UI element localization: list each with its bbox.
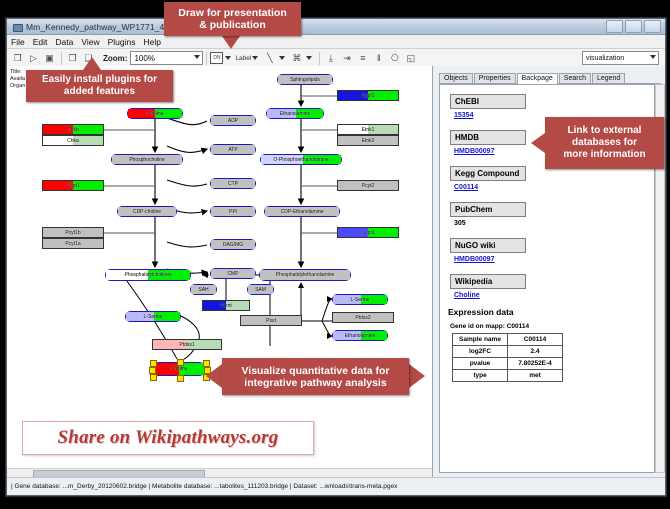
minimize-button[interactable] [606, 20, 623, 33]
node-label: Ptdss1 [179, 342, 194, 348]
gene-node[interactable]: Pcyt1a [42, 238, 104, 249]
node-label: Ethanolamine [345, 333, 376, 339]
backpage-link[interactable]: C00114 [454, 184, 650, 191]
menu-view[interactable]: View [81, 37, 99, 47]
callout-draw-text: Draw for presentation & publication [178, 7, 287, 31]
node-label: Pcyt1b [65, 230, 80, 236]
metabolite-node[interactable]: O-Phosphoethanolamine [260, 154, 342, 165]
toolbar-separator [61, 52, 62, 65]
tab-search[interactable]: Search [559, 73, 591, 83]
node-label: Pcyt1a [65, 241, 80, 247]
menu-bar: File Edit Data View Plugins Help [7, 35, 665, 49]
backpage-heading: Kegg Compound [450, 166, 526, 181]
metabolite-node[interactable]: Phosphocholine [111, 154, 183, 165]
metabolite-node[interactable]: L-Serine [125, 311, 181, 322]
table-row: log2FC2.4 [453, 346, 563, 358]
node-label: Chpt1 [66, 183, 79, 189]
table-row: typemet [453, 370, 563, 382]
label-tool[interactable]: Label [235, 55, 251, 62]
copy-icon[interactable]: ❐ [65, 51, 80, 66]
metabolite-node[interactable]: SAM [247, 284, 274, 295]
table-row: Sample nameC00114 [453, 334, 563, 346]
menu-data[interactable]: Data [55, 37, 73, 47]
metabolite-node[interactable]: Sphingolipids [277, 74, 333, 85]
node-label: Phosphocholine [129, 157, 165, 163]
chevron-down-icon-line[interactable] [279, 56, 285, 60]
callout-draw-arrow-icon [222, 36, 240, 49]
screenshot-root: Mm_Kennedy_pathway_WP1771_45176.gpml Fil… [0, 0, 670, 509]
node-label: Sgpl1 [362, 93, 375, 99]
node-label: ATP [228, 147, 237, 153]
metabolite-node[interactable]: CDP-Ethanolamine [264, 206, 340, 217]
node-label: SAM [255, 287, 266, 293]
tab-legend[interactable]: Legend [592, 73, 625, 83]
visualization-combobox[interactable]: visualization [582, 51, 659, 65]
datanode-tool-icon[interactable]: DN [210, 52, 223, 64]
node-label: Chka [67, 138, 79, 144]
share-wikipathways-banner: Share on Wikipathways.org [22, 421, 314, 455]
window-titlebar: Mm_Kennedy_pathway_WP1771_45176.gpml [7, 19, 665, 35]
callout-db-arrow-icon [531, 133, 545, 153]
node-label: Cept1 [361, 230, 374, 236]
metabolite-node[interactable]: Phosphatidylcholines [105, 269, 191, 281]
node-label: Choline [147, 111, 164, 117]
node-label: Etnk1 [362, 127, 375, 133]
gene-node[interactable]: Pisd [240, 315, 302, 326]
shape-tool-icon[interactable]: ⌘ [289, 51, 304, 66]
node-label: Pisd [266, 318, 276, 324]
expression-data-table: Sample nameC00114log2FC2.4pvalue7.80252E… [452, 333, 563, 382]
line-tool-icon[interactable]: ╲ [262, 51, 277, 66]
expression-key: pvalue [453, 358, 508, 370]
selection-handle[interactable] [150, 360, 157, 367]
node-label: SAH [198, 287, 208, 293]
table-row: pvalue7.80252E-4 [453, 358, 563, 370]
backpage-link[interactable]: Choline [454, 292, 650, 299]
window-controls[interactable] [606, 20, 662, 33]
menu-edit[interactable]: Edit [33, 37, 48, 47]
callout-viz-arrow-right-icon [409, 364, 425, 388]
selection-handle[interactable] [149, 367, 156, 374]
status-text: | Gene database: ...m_Derby_20120602.bri… [7, 483, 397, 490]
metabolite-node[interactable]: DAG/MG [210, 239, 256, 250]
callout-external-databases: Link to external databases for more info… [545, 117, 664, 169]
node-label: Chkb [67, 127, 79, 133]
selection-handle[interactable] [150, 374, 157, 381]
tab-objects[interactable]: Objects [439, 73, 473, 83]
node-label: Ethanolamine [280, 111, 311, 117]
menu-file[interactable]: File [11, 37, 25, 47]
order-icon[interactable]: ◱ [403, 51, 418, 66]
expression-value: C00114 [508, 334, 563, 346]
gene-node[interactable]: Chkb [42, 124, 104, 135]
align-left-icon[interactable]: ⇥ [339, 51, 354, 66]
backpage-heading: ChEBI [450, 94, 526, 109]
expression-key: Sample name [453, 334, 508, 346]
expression-value: 2.4 [508, 346, 563, 358]
align-top-icon[interactable]: ⤓ [323, 51, 338, 66]
node-label: CTP [228, 181, 238, 187]
node-label: L-Serine [351, 297, 370, 303]
tab-backpage[interactable]: Backpage [517, 73, 558, 84]
backpage-heading: Wikipedia [450, 274, 526, 289]
metabolite-node[interactable]: Ethanolamine [266, 108, 324, 119]
gene-node[interactable]: Etnk1 [337, 124, 399, 135]
gene-node[interactable]: Pcyt1b [42, 227, 104, 238]
node-label: CMP [227, 271, 238, 277]
node-label: O-Phosphoethanolamine [273, 157, 328, 163]
toolbar-separator-2 [206, 52, 207, 65]
selection-handle[interactable] [177, 359, 184, 366]
node-label: Sphingolipids [290, 77, 320, 83]
metabolite-node[interactable]: CMP [210, 268, 256, 279]
zoom-label: Zoom: [103, 54, 127, 63]
node-label: Phosphatidylethanolamine [276, 272, 335, 278]
menu-help[interactable]: Help [144, 37, 161, 47]
expression-data-title: Expression data [448, 307, 650, 317]
zoom-value: 100% [134, 54, 154, 63]
close-button[interactable] [644, 20, 661, 33]
zoom-combobox[interactable]: 100% [130, 51, 203, 65]
chevron-down-icon-visualization [650, 55, 656, 59]
maximize-button[interactable] [625, 20, 642, 33]
metabolite-node[interactable]: Ethanolamine [332, 330, 388, 341]
pathway-canvas[interactable]: Title: Availa Organ [7, 66, 433, 477]
gene-node[interactable]: Etnk2 [337, 135, 399, 146]
backpage-section: PubChem305 [450, 199, 650, 227]
metabolite-node[interactable]: CTP [210, 178, 256, 189]
backpage-heading: PubChem [450, 202, 526, 217]
gene-node[interactable]: Chpt1 [42, 180, 104, 191]
canvas-horizontal-scrollbar[interactable] [7, 468, 432, 477]
node-label: ADP [228, 118, 238, 124]
node-label: Phosphatidylcholines [125, 272, 172, 278]
gene-node[interactable]: Cept1 [337, 227, 399, 238]
gene-node[interactable]: Pcyt2 [337, 180, 399, 191]
backpage-value: 305 [454, 220, 650, 227]
backpage-link[interactable]: HMDB00097 [454, 256, 650, 263]
gene-node[interactable]: Ptdss2 [332, 312, 394, 323]
metabolite-node[interactable]: L-Serine [332, 294, 388, 305]
node-label: CDP-choline [133, 209, 161, 215]
expression-value: met [508, 370, 563, 382]
metabolite-node[interactable]: ATP [210, 144, 256, 155]
stack-icon[interactable]: ⎔ [387, 51, 402, 66]
distribute-horizontal-icon[interactable]: ‖ [371, 51, 386, 66]
menu-plugins[interactable]: Plugins [108, 37, 136, 47]
side-panel-tabs: ObjectsPropertiesBackpageSearchLegend [439, 70, 661, 84]
pathvisio-app-icon [12, 22, 22, 32]
new-file-icon[interactable]: ❐ [10, 51, 25, 66]
expression-key: log2FC [453, 346, 508, 358]
metabolite-node[interactable]: Phosphatidylethanolamine [259, 269, 351, 281]
node-label: L-Serine [144, 314, 163, 320]
chevron-down-icon [194, 55, 200, 59]
selection-handle[interactable] [177, 375, 184, 382]
share-text: Share on Wikipathways.org [58, 427, 279, 449]
expression-key: type [453, 370, 508, 382]
status-bar: | Gene database: ...m_Derby_20120602.bri… [7, 477, 665, 495]
node-label: DAG/MG [223, 242, 243, 248]
chevron-down-icon-label[interactable] [252, 56, 258, 60]
chevron-down-icon-datanode[interactable] [225, 56, 231, 60]
callout-plugins-text: Easily install plugins for added feature… [42, 74, 157, 98]
node-label: CDP-Ethanolamine [281, 209, 324, 215]
node-label: Pcyt2 [362, 183, 375, 189]
callout-draw-for-publication: Draw for presentation & publication [164, 2, 301, 36]
gene-id-line: Gene id on mapp: C00114 [450, 323, 650, 330]
metabolite-node[interactable]: ADP [210, 115, 256, 126]
scrollbar-thumb[interactable] [33, 470, 205, 477]
callout-viz-arrow-left-icon [206, 364, 222, 388]
metabolite-node[interactable]: Choline [127, 108, 183, 119]
visualization-value: visualization [586, 55, 624, 62]
callout-viz-text: Visualize quantitative data for integrat… [241, 365, 389, 389]
callout-visualize-data: Visualize quantitative data for integrat… [222, 358, 409, 395]
tab-properties[interactable]: Properties [474, 73, 516, 83]
callout-install-plugins: Easily install plugins for added feature… [26, 70, 173, 102]
open-file-icon[interactable]: ▷ [26, 51, 41, 66]
gene-node[interactable]: Pemt [202, 300, 250, 311]
node-label: PPi [229, 209, 237, 215]
gene-node[interactable]: Ptdss1 [152, 339, 222, 350]
toolbar-separator-3 [319, 52, 320, 65]
metabolite-node[interactable]: CDP-choline [117, 206, 177, 217]
node-label: Ptdss2 [355, 315, 370, 321]
callout-plugins-arrow-icon [83, 57, 101, 70]
gene-node[interactable]: Sgpl1 [337, 90, 399, 101]
expression-value: 7.80252E-4 [508, 358, 563, 370]
backpage-heading: NuGO wiki [450, 238, 526, 253]
chevron-down-icon-shape[interactable] [306, 56, 312, 60]
node-label: Etnk2 [362, 138, 375, 144]
backpage-section: NuGO wikiHMDB00097 [450, 235, 650, 263]
save-file-icon[interactable]: ▣ [42, 51, 57, 66]
metabolite-node[interactable]: PPi [210, 206, 256, 217]
metabolite-node[interactable]: SAH [190, 284, 217, 295]
backpage-section: WikipediaCholine [450, 271, 650, 299]
distribute-vertical-icon[interactable]: ≡ [355, 51, 370, 66]
backpage-section: ChEBI15354 [450, 91, 650, 119]
node-label: Choline [171, 366, 188, 372]
backpage-heading: HMDB [450, 130, 526, 145]
callout-db-text: Link to external databases for more info… [563, 125, 645, 161]
gene-node[interactable]: Chka [42, 135, 104, 146]
node-label: Pemt [220, 303, 232, 309]
